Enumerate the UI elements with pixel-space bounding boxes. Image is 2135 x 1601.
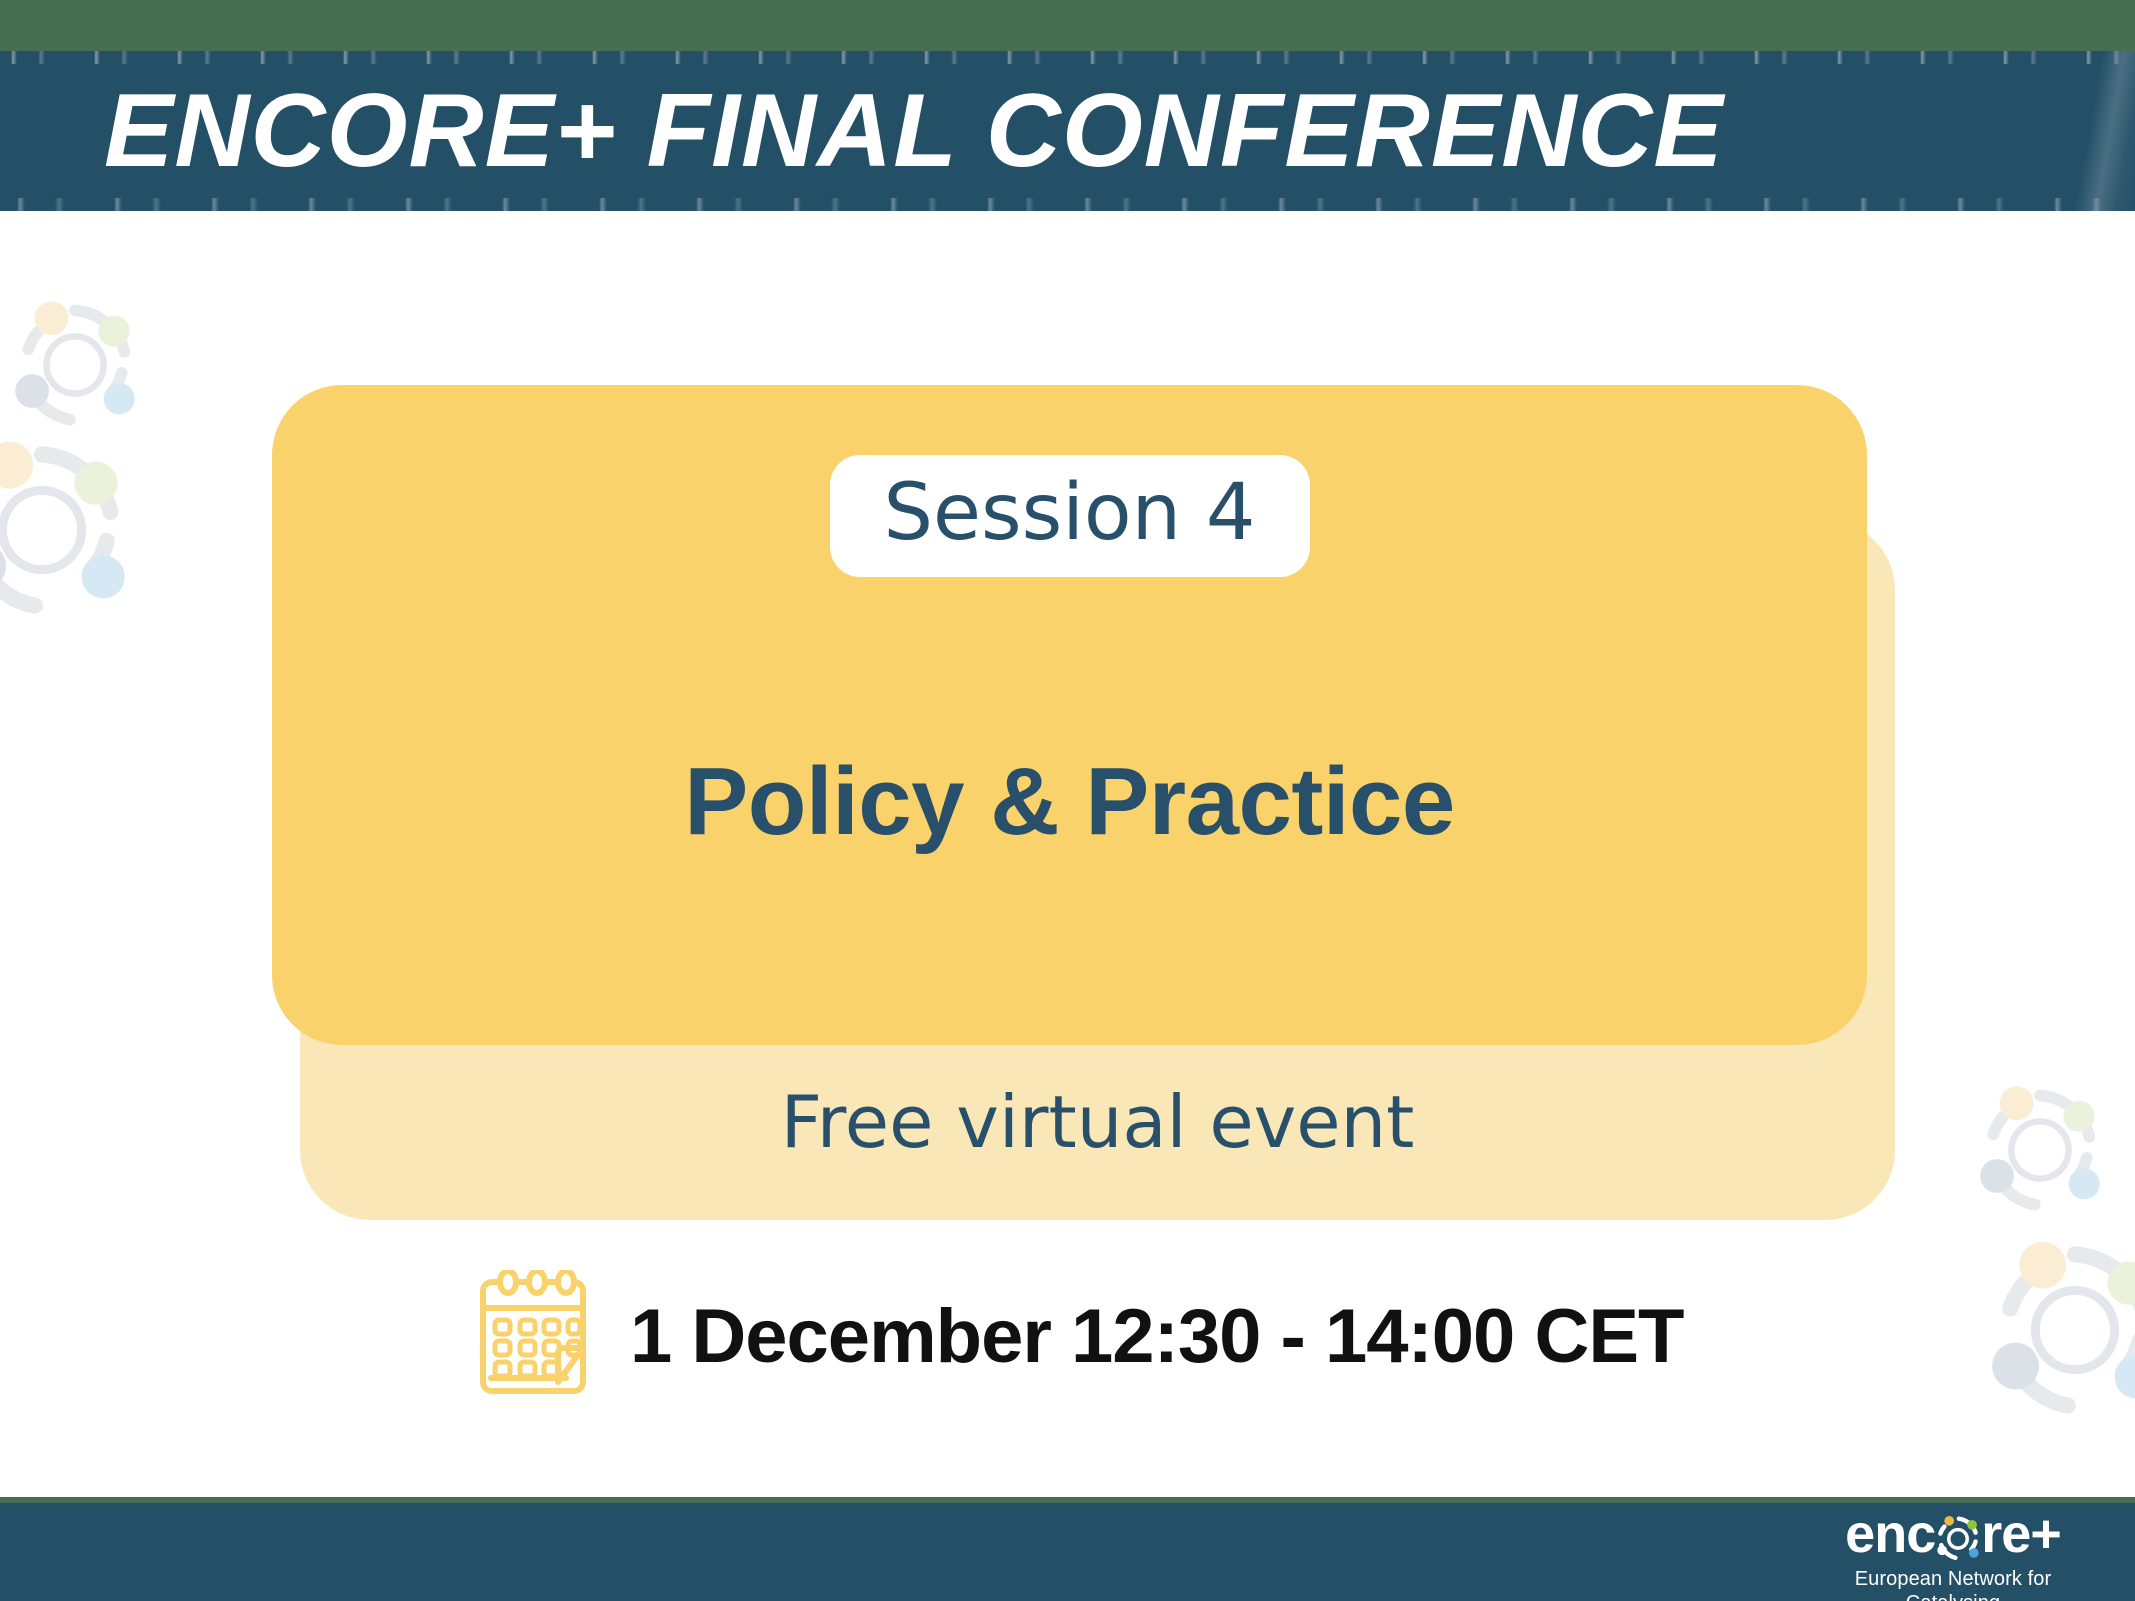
session-heading: Policy & Practice bbox=[272, 747, 1867, 857]
logo-tagline: European Network for Catalysing Open Res… bbox=[1819, 1567, 2087, 1601]
encore-plus-logo: enc re+ European Network for Catalysing … bbox=[1819, 1506, 2087, 1601]
encore-orbit-watermark bbox=[1985, 1240, 2135, 1420]
event-datetime: 1 December 12:30 - 14:00 CET bbox=[630, 1293, 1683, 1380]
page-title: ENCORE+ FINAL CONFERENCE bbox=[0, 51, 2135, 211]
session-card: Session 4 Policy & Practice bbox=[272, 385, 1867, 1045]
logo-word-after: re+ bbox=[1981, 1507, 2061, 1561]
event-subtext: Free virtual event bbox=[300, 1080, 1895, 1164]
encore-orbit-icon bbox=[1936, 1515, 1980, 1559]
event-date-row: 1 December 12:30 - 14:00 CET bbox=[478, 1270, 1683, 1402]
encore-orbit-watermark bbox=[1975, 1085, 2105, 1215]
footer-band bbox=[0, 1503, 2135, 1601]
logo-word-before: enc bbox=[1845, 1507, 1935, 1561]
top-accent-strip bbox=[0, 0, 2135, 51]
calendar-icon bbox=[478, 1270, 596, 1402]
encore-orbit-watermark bbox=[10, 300, 140, 430]
conference-promo-slide: ENCORE+ FINAL CONFERENCE bbox=[0, 0, 2135, 1601]
logo-tagline-line1: European Network for Catalysing bbox=[1819, 1567, 2087, 1601]
encore-orbit-watermark bbox=[0, 440, 132, 620]
session-badge: Session 4 bbox=[829, 455, 1309, 577]
logo-wordmark: enc re+ bbox=[1819, 1506, 2087, 1562]
